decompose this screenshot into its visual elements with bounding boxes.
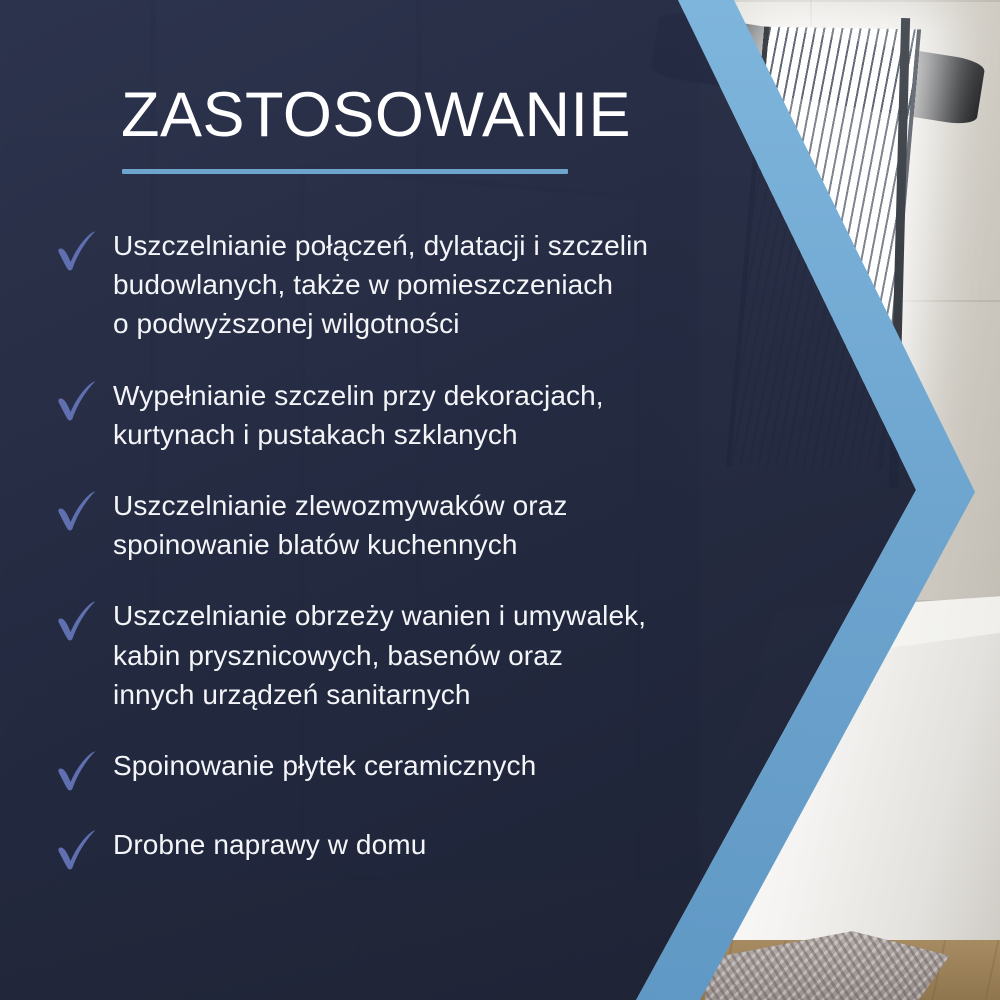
page-title: ZASTOSOWANIE (121, 82, 631, 148)
list-item: Uszczelnianie połączeń, dylatacji i szcz… (0, 226, 700, 344)
list-item-text: Spoinowanie płytek ceramicznych (113, 746, 700, 785)
list-item: Drobne naprawy w domu (0, 825, 700, 872)
list-item: Uszczelnianie obrzeży wanien i umywalek,… (0, 596, 700, 714)
list-item: Uszczelnianie zlewozmywaków oraz spoinow… (0, 486, 700, 564)
check-mark-icon (55, 489, 113, 533)
slide-content: ZASTOSOWANIE Uszczelnianie połączeń, dyl… (0, 0, 700, 1000)
list-item-text: Uszczelnianie obrzeży wanien i umywalek,… (113, 596, 700, 714)
application-list: Uszczelnianie połączeń, dylatacji i szcz… (0, 226, 700, 904)
check-mark-icon (55, 229, 113, 273)
title-underline (122, 169, 568, 174)
list-item: Wypełnianie szczelin przy dekoracjach, k… (0, 376, 700, 454)
list-item-text: Drobne naprawy w domu (113, 825, 700, 864)
check-mark-icon (55, 749, 113, 793)
slide-root: ZASTOSOWANIE Uszczelnianie połączeń, dyl… (0, 0, 1000, 1000)
check-mark-icon (55, 828, 113, 872)
list-item: Spoinowanie płytek ceramicznych (0, 746, 700, 793)
list-item-text: Uszczelnianie połączeń, dylatacji i szcz… (113, 226, 700, 344)
list-item-text: Uszczelnianie zlewozmywaków oraz spoinow… (113, 486, 700, 564)
check-mark-icon (55, 379, 113, 423)
check-mark-icon (55, 599, 113, 643)
list-item-text: Wypełnianie szczelin przy dekoracjach, k… (113, 376, 700, 454)
